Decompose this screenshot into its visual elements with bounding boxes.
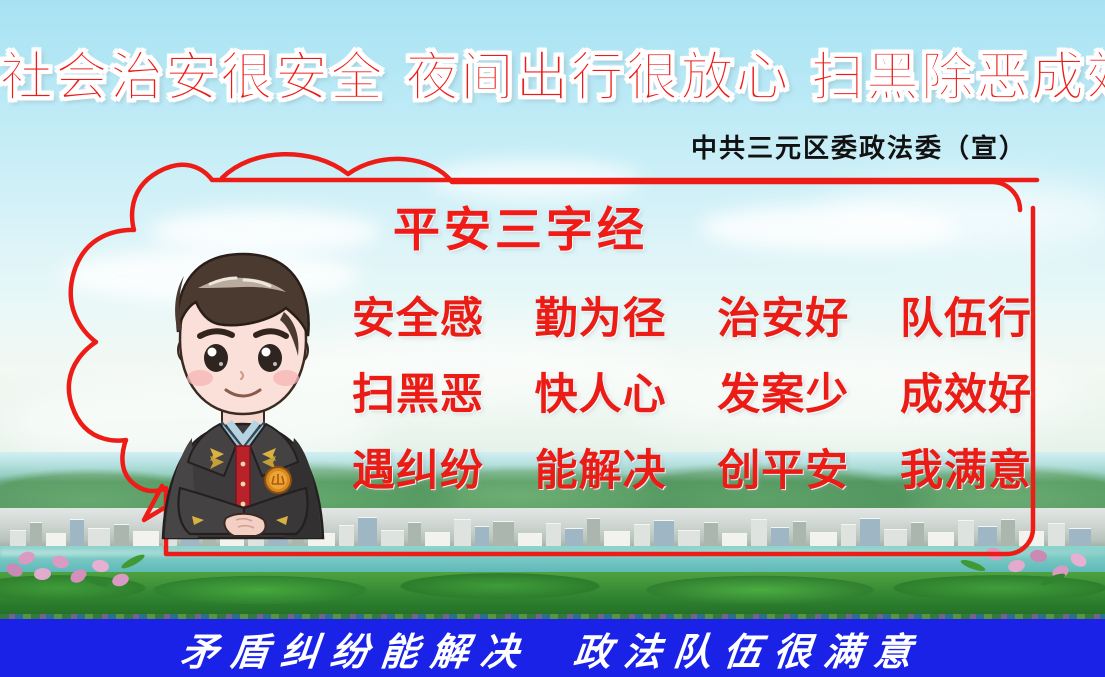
verse-cell: 我满意 <box>900 436 1032 498</box>
issuer-label: 中共三元区委政法委（宣） <box>691 128 1027 165</box>
verse-cell: 扫黑恶 <box>352 360 484 422</box>
verse-cell: 快人心 <box>535 360 667 422</box>
bottom-slogan-banner: 矛盾纠纷能解决 政法队伍很满意 <box>0 619 1105 677</box>
propaganda-poster: 社会治安很安全 夜间出行很放心 扫黑除恶成效好 中共三元区委政法委（宣） <box>0 0 1105 677</box>
verse-cell: 治安好 <box>717 284 849 346</box>
verse-cell: 发案少 <box>717 360 849 422</box>
cartoon-judge-mascot <box>118 232 368 552</box>
verse-row: 安全感 勤为径 治安好 队伍行 <box>352 284 1032 346</box>
verse-cell: 遇纠纷 <box>352 436 484 498</box>
foreground-greenery <box>0 572 1105 620</box>
verse-cell: 安全感 <box>352 284 484 346</box>
verse-cell: 勤为径 <box>535 284 667 346</box>
verse-cell: 能解决 <box>535 436 667 498</box>
verse-cell: 队伍行 <box>900 284 1032 346</box>
page-title: 社会治安很安全 夜间出行很放心 扫黑除恶成效好 <box>0 35 1105 111</box>
verse-row: 扫黑恶 快人心 发案少 成效好 <box>352 360 1032 422</box>
verse-cell: 成效好 <box>900 360 1032 422</box>
section-heading: 平安三字经 <box>393 191 648 260</box>
verse-row: 遇纠纷 能解决 创平安 我满意 <box>352 436 1032 498</box>
verse-block: 安全感 勤为径 治安好 队伍行 扫黑恶 快人心 发案少 成效好 遇纠纷 能解决 … <box>352 284 1032 512</box>
verse-cell: 创平安 <box>717 436 849 498</box>
banner-slogan-right: 政法队伍很满意 <box>571 621 927 676</box>
banner-slogan-left: 矛盾纠纷能解决 <box>179 621 535 676</box>
